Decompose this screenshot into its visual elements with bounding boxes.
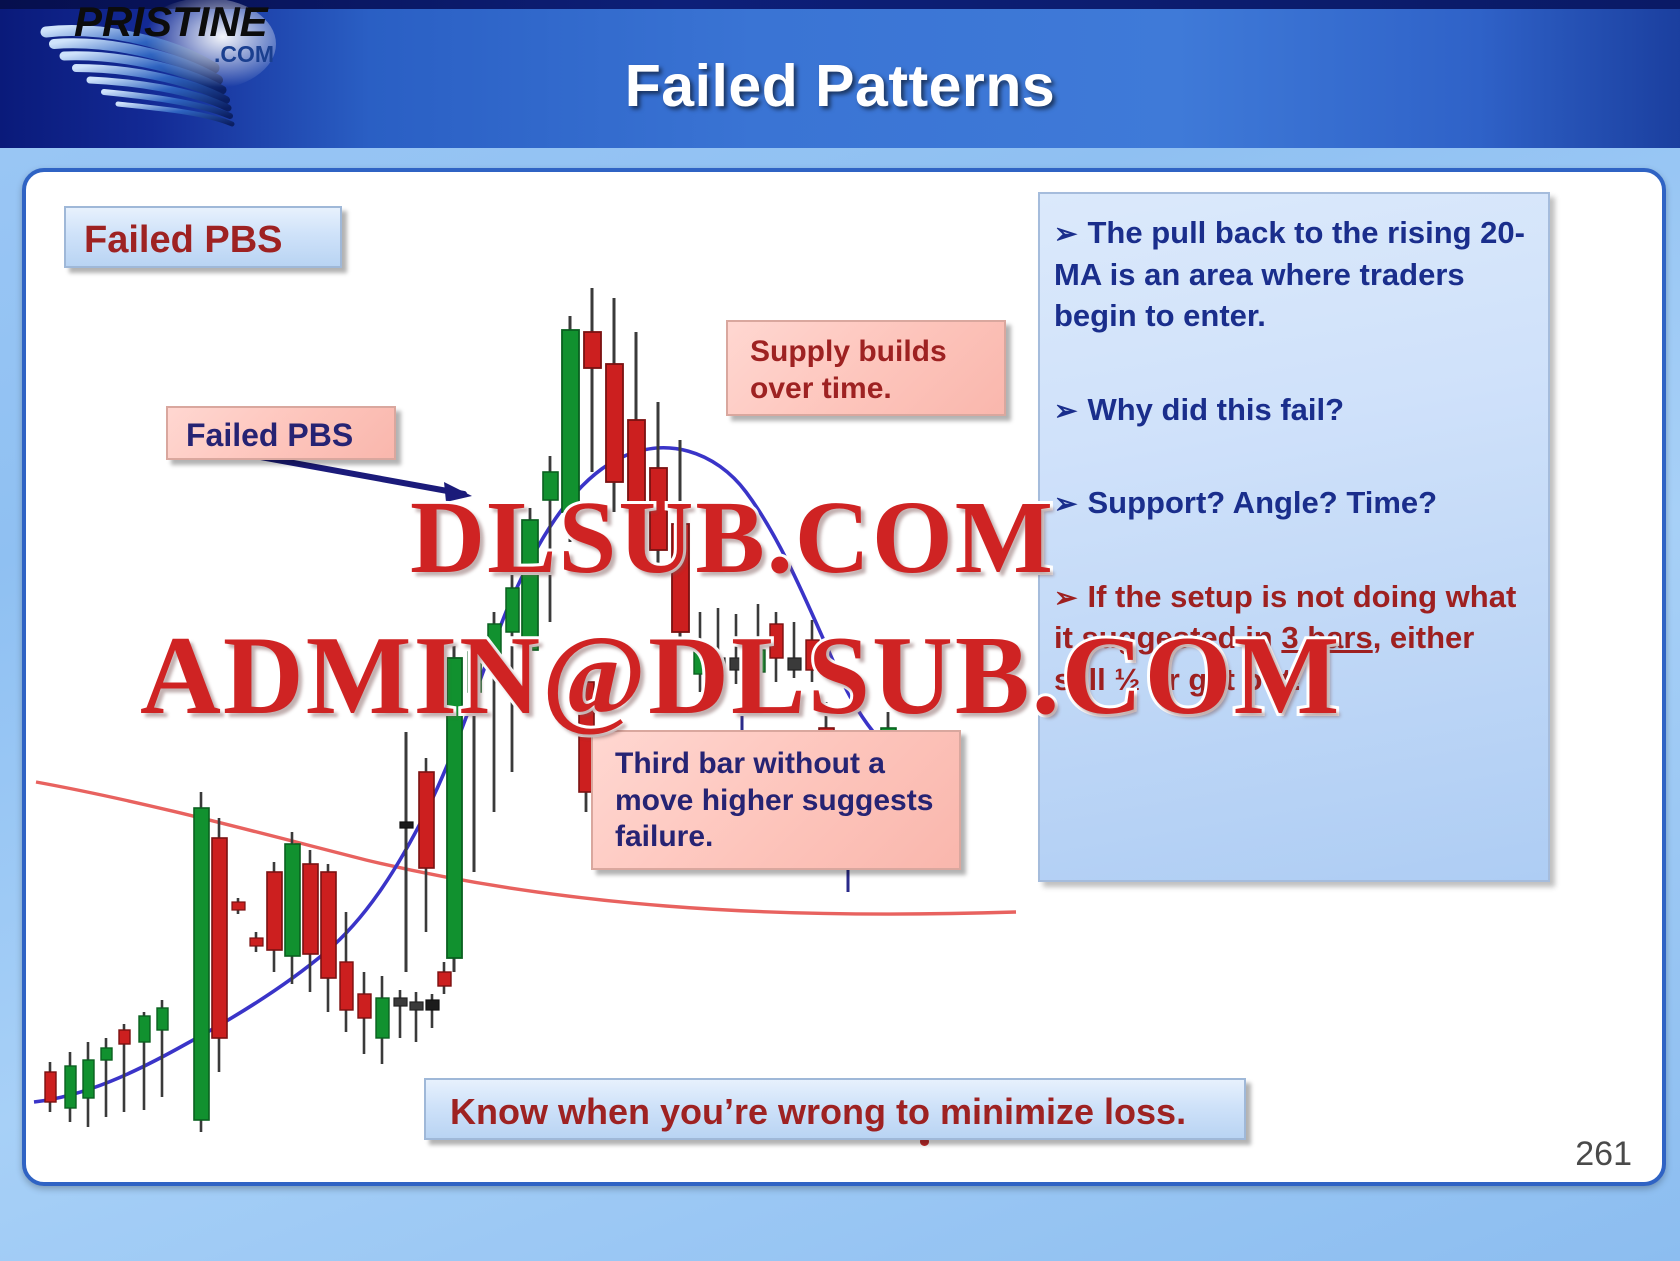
bullet-arrow-icon: ➢: [1054, 395, 1077, 426]
note-item-1: ➢The pull back to the rising 20-MA is an…: [1054, 212, 1530, 337]
note-text-1: The pull back to the rising 20-MA is an …: [1054, 215, 1525, 333]
logo-wordmark: PRISTINE: [74, 0, 270, 45]
note-spacer-2: [1054, 436, 1530, 482]
supply-builds-callout: Supply builds over time.: [726, 320, 1006, 416]
note-spacer-3: [1054, 530, 1530, 576]
third-bar-callout: Third bar without a move higher suggests…: [591, 730, 961, 870]
bullet-arrow-icon: ➢: [1054, 218, 1077, 249]
note-spacer-1: [1054, 343, 1530, 389]
failed-pbs-title-box: Failed PBS: [64, 206, 342, 268]
note-text-2: Why did this fail?: [1087, 392, 1344, 427]
note-item-2: ➢Why did this fail?: [1054, 389, 1530, 431]
page-number: 261: [1575, 1135, 1632, 1174]
note-item-3: ➢Support? Angle? Time?: [1054, 482, 1530, 524]
failed-pbs-annotation-box: Failed PBS: [166, 406, 396, 460]
page-title: Failed Patterns: [0, 52, 1680, 120]
bullet-arrow-icon: ➢: [1054, 488, 1077, 519]
bullet-arrow-icon: ➢: [1054, 582, 1077, 613]
slide: PRISTINE .COM Failed Patterns: [0, 0, 1680, 1261]
notes-panel: ➢The pull back to the rising 20-MA is an…: [1038, 192, 1550, 882]
bottom-banner: Know when you’re wrong to minimize loss.: [424, 1078, 1246, 1140]
note-text-3: Support? Angle? Time?: [1087, 485, 1437, 520]
watermark-line-2: ADMIN@DLSUB.COM: [140, 612, 1341, 741]
watermark-line-1: DLSUB.COM: [410, 478, 1055, 597]
